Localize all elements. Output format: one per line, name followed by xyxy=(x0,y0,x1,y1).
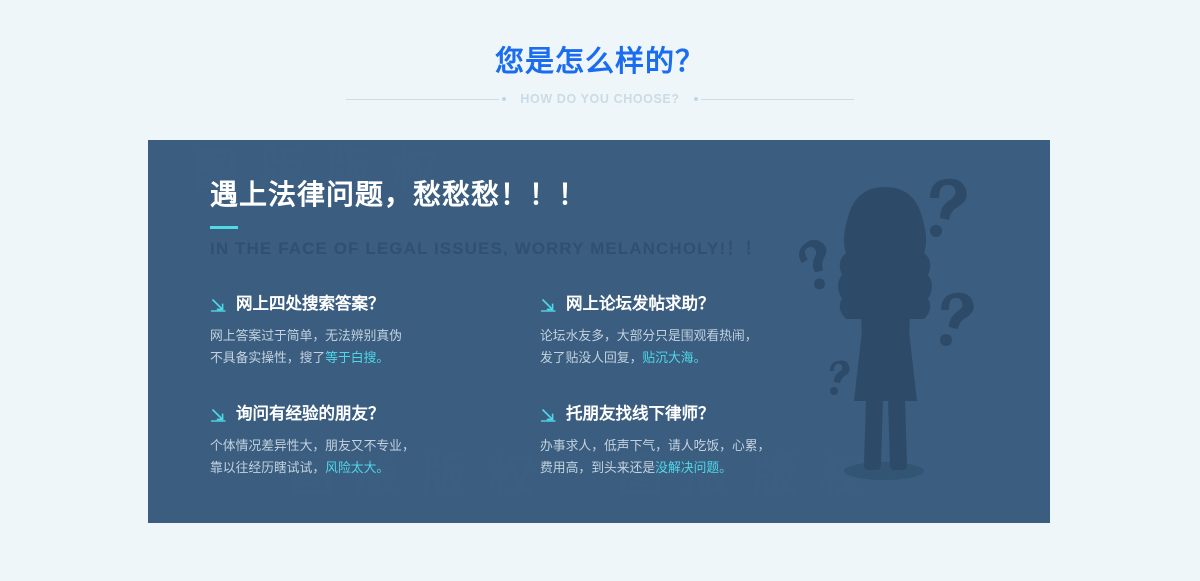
item-title-row: 网上论坛发帖求助？ xyxy=(540,295,870,315)
page-subtitle: HOW DO YOU CHOOSE? xyxy=(520,92,679,106)
item-body-text: 。 xyxy=(694,350,707,365)
decorative-line-right xyxy=(694,97,854,101)
page-title: 您是怎么样的？ xyxy=(0,44,1200,80)
item-body: 论坛水友多，大部分只是围观看热闹， 发了贴没人回复，贴沉大海。 xyxy=(540,325,870,369)
diagonal-arrow-icon xyxy=(540,408,557,422)
decorative-line-left xyxy=(346,97,506,101)
item-body-text: 。 xyxy=(376,460,389,475)
item-body-text: 。 xyxy=(719,460,732,475)
item-body-text: 靠以往经历瞎试试， xyxy=(210,460,325,475)
item-highlight: 没解决问题 xyxy=(655,460,719,475)
section-header: 您是怎么样的？ HOW DO YOU CHOOSE? xyxy=(0,0,1200,106)
item-title: 托朋友找线下律师？ xyxy=(566,405,715,425)
item-body-text: 。 xyxy=(376,350,389,365)
list-item: 托朋友找线下律师？ 办事求人，低声下气，请人吃饭，心累， 费用高，到头来还是没解… xyxy=(540,405,870,479)
item-title: 网上四处搜索答案？ xyxy=(236,295,385,315)
item-body-line: 费用高，到头来还是没解决问题。 xyxy=(540,457,870,479)
pain-point-list: 网上四处搜索答案？ 网上答案过于简单，无法辨别真伪 不具备实操性，搜了等于白搜。 xyxy=(210,295,890,479)
diagonal-arrow-icon xyxy=(540,298,557,312)
heading-accent-rule xyxy=(210,226,238,229)
item-body-text: 不具备实操性，搜了 xyxy=(210,350,325,365)
panel-subheading: IN THE FACE OF LEGAL ISSUES, WORRY MELAN… xyxy=(210,239,1050,259)
list-item: 询问有经验的朋友？ 个体情况差异性大，朋友又不专业， 靠以往经历瞎试试，风险太大… xyxy=(210,405,540,479)
item-title-row: 托朋友找线下律师？ xyxy=(540,405,870,425)
item-body-line: 不具备实操性，搜了等于白搜。 xyxy=(210,347,540,369)
item-body: 办事求人，低声下气，请人吃饭，心累， 费用高，到头来还是没解决问题。 xyxy=(540,435,870,479)
subtitle-row: HOW DO YOU CHOOSE? xyxy=(0,92,1200,106)
diagonal-arrow-icon xyxy=(210,408,227,422)
item-title: 询问有经验的朋友？ xyxy=(236,405,385,425)
item-body-line: 靠以往经历瞎试试，风险太大。 xyxy=(210,457,540,479)
item-body-text: 发了贴没人回复， xyxy=(540,350,642,365)
content-panel: 图 版 版 权 图 版 版 权 图 版 版 权 xyxy=(148,140,1050,523)
item-body-line: 论坛水友多，大部分只是围观看热闹， xyxy=(540,325,870,347)
item-highlight: 风险太大 xyxy=(325,460,376,475)
item-body-text: 费用高，到头来还是 xyxy=(540,460,655,475)
item-title-row: 网上四处搜索答案？ xyxy=(210,295,540,315)
item-body-line: 办事求人，低声下气，请人吃饭，心累， xyxy=(540,435,870,457)
list-item: 网上论坛发帖求助？ 论坛水友多，大部分只是围观看热闹， 发了贴没人回复，贴沉大海… xyxy=(540,295,870,369)
item-body-line: 发了贴没人回复，贴沉大海。 xyxy=(540,347,870,369)
item-highlight: 贴沉大海 xyxy=(642,350,693,365)
list-item: 网上四处搜索答案？ 网上答案过于简单，无法辨别真伪 不具备实操性，搜了等于白搜。 xyxy=(210,295,540,369)
item-highlight: 等于白搜 xyxy=(325,350,376,365)
panel-heading: 遇上法律问题，愁愁愁！！！ xyxy=(210,178,1050,212)
item-title-row: 询问有经验的朋友？ xyxy=(210,405,540,425)
item-body: 个体情况差异性大，朋友又不专业， 靠以往经历瞎试试，风险太大。 xyxy=(210,435,540,479)
item-body-line: 网上答案过于简单，无法辨别真伪 xyxy=(210,325,540,347)
item-title: 网上论坛发帖求助？ xyxy=(566,295,715,315)
item-body: 网上答案过于简单，无法辨别真伪 不具备实操性，搜了等于白搜。 xyxy=(210,325,540,369)
item-body-line: 个体情况差异性大，朋友又不专业， xyxy=(210,435,540,457)
diagonal-arrow-icon xyxy=(210,298,227,312)
panel-content: 遇上法律问题，愁愁愁！！！ IN THE FACE OF LEGAL ISSUE… xyxy=(148,140,1050,479)
